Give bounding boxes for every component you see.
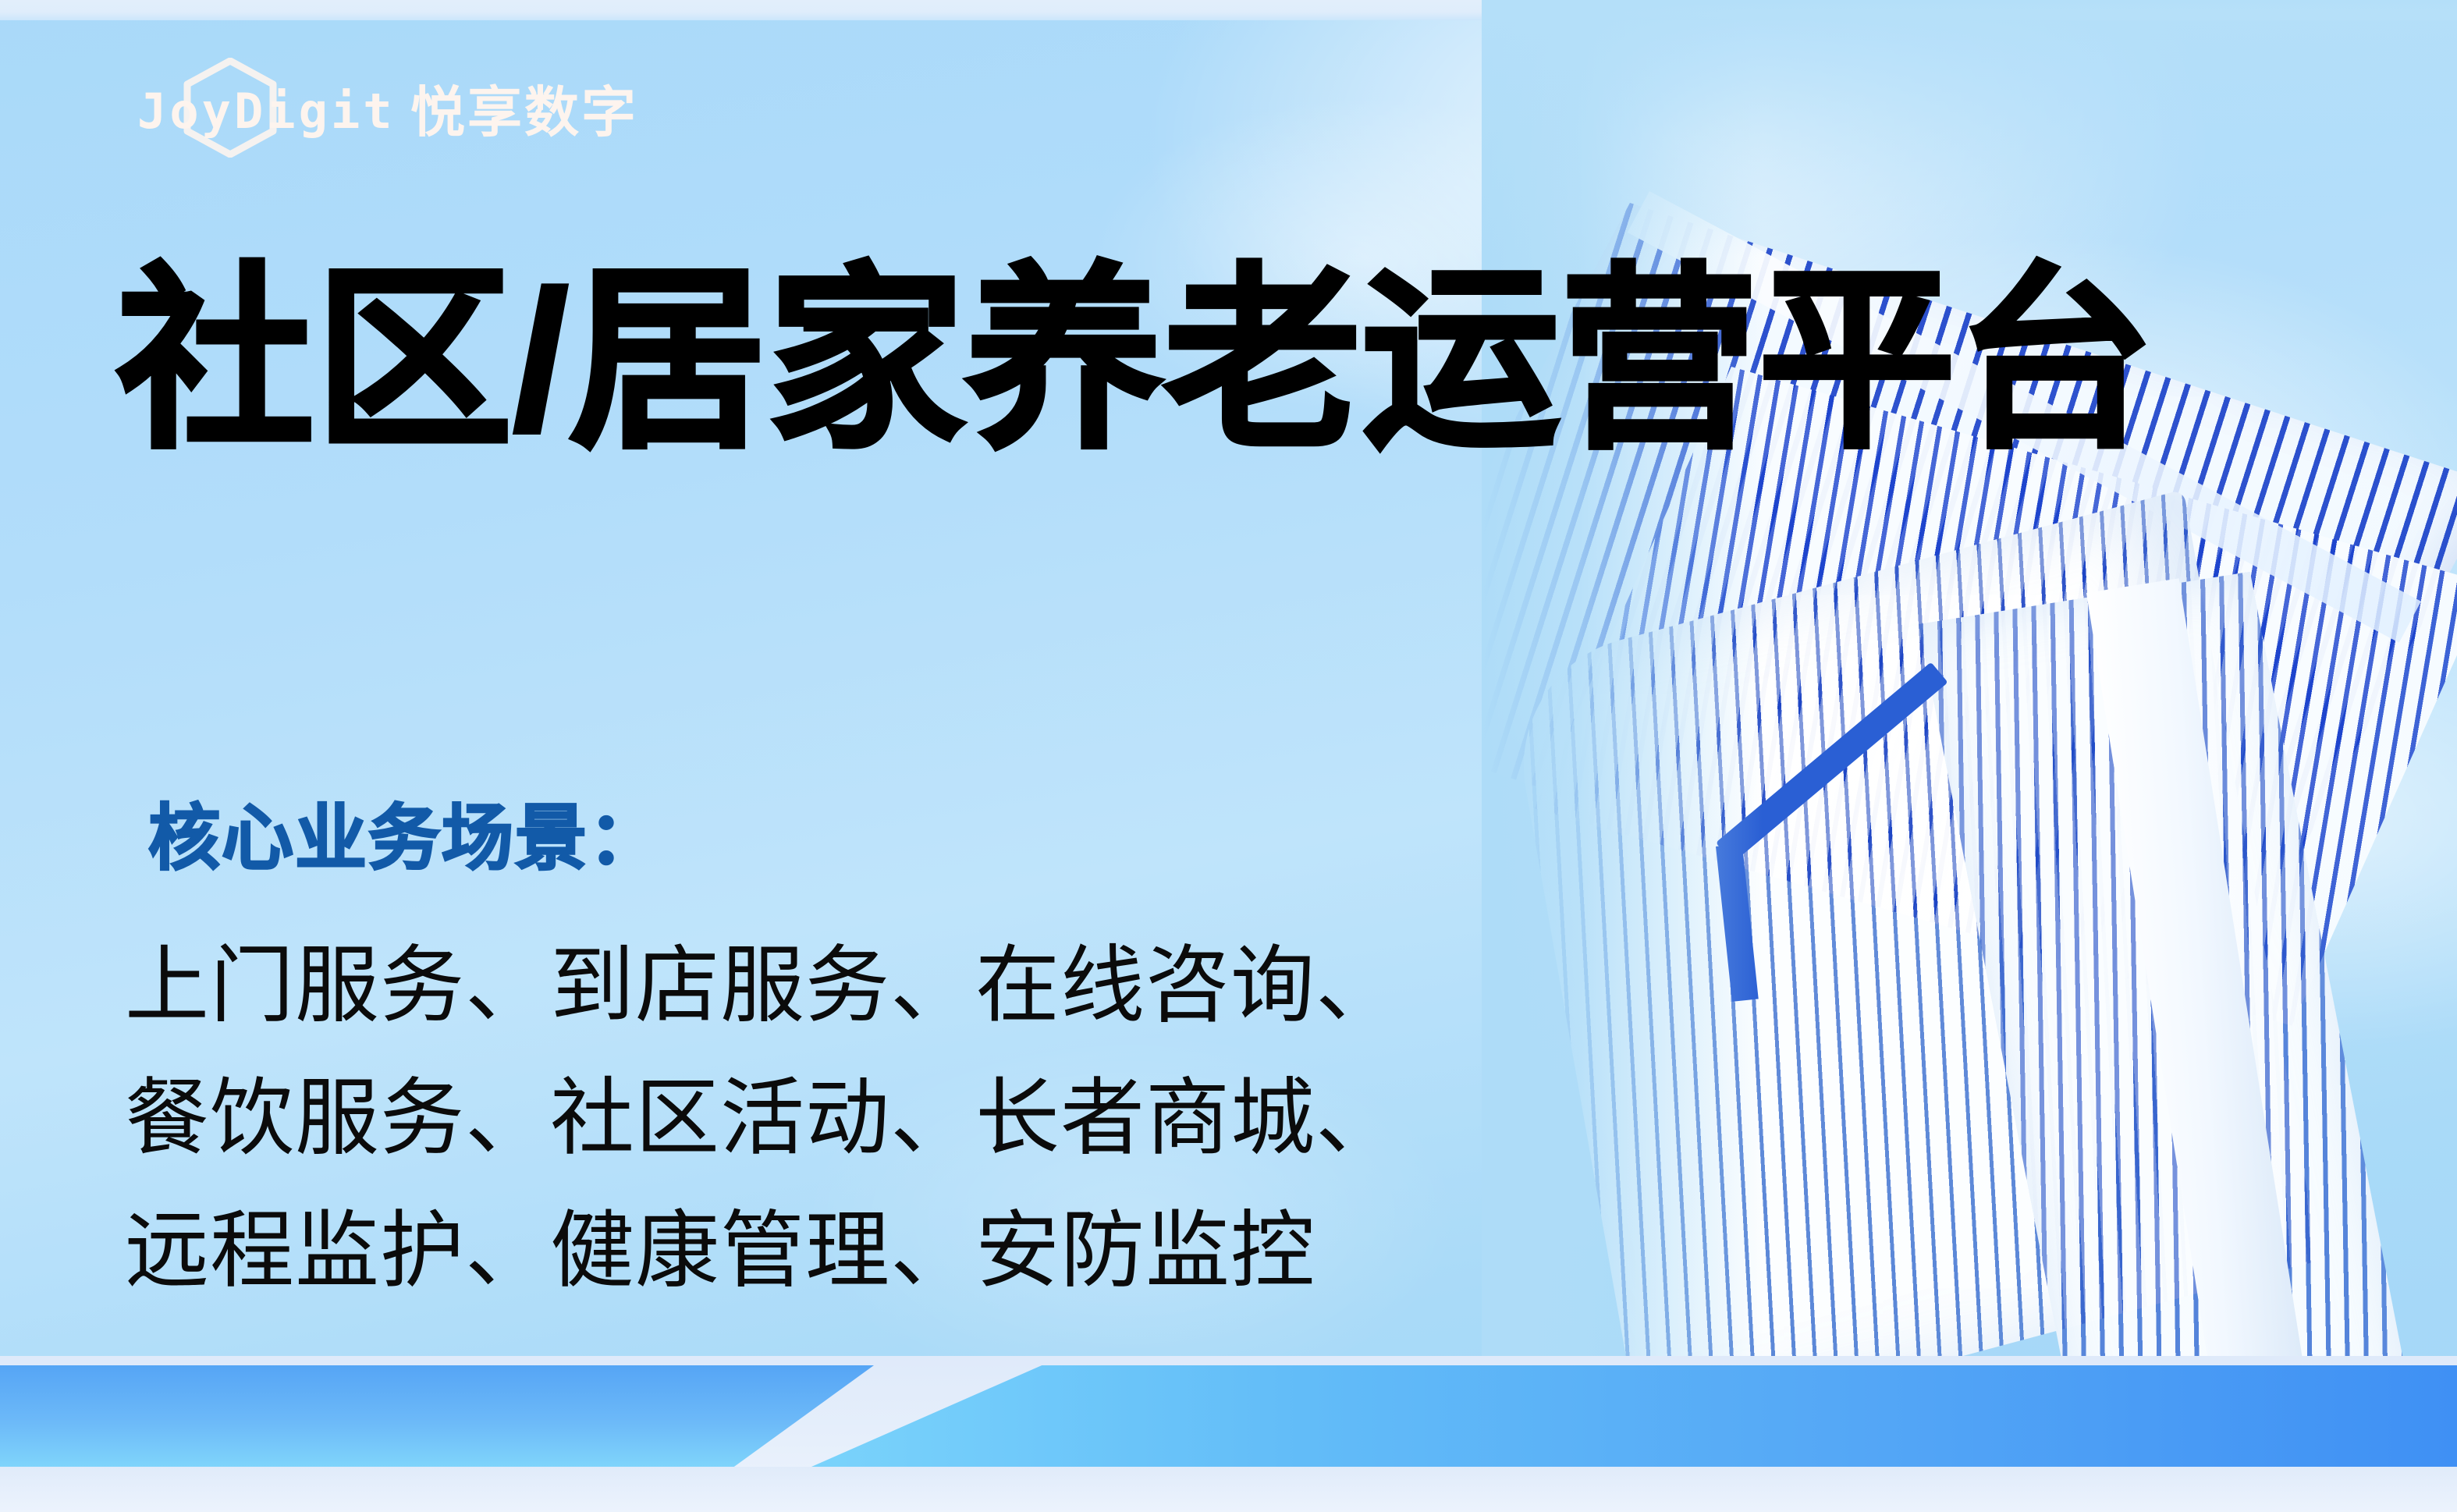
scenario-list: 上门服务、到店服务、在线咨询、 餐饮服务、社区活动、长者商城、 远程监护、健康管… <box>125 919 1401 1317</box>
scenario-line: 上门服务、到店服务、在线咨询、 <box>125 919 1401 1052</box>
scenario-line: 远程监护、健康管理、安防监控 <box>125 1184 1401 1317</box>
scenario-line: 餐饮服务、社区活动、长者商城、 <box>125 1052 1401 1184</box>
logo-mark: JoyDigit <box>137 64 301 151</box>
bottom-decorative-band <box>0 1356 2457 1512</box>
band-footer-strip <box>0 1467 2457 1512</box>
page-title: 社区/居家养老运营平台 <box>117 261 2155 461</box>
logo-chinese-name: 悦享数字 <box>410 69 638 147</box>
section-subtitle: 核心业务场景： <box>148 780 662 884</box>
band-left-parallelogram <box>0 1365 874 1467</box>
skyscraper-artwork <box>1482 0 2457 1404</box>
slide-canvas: JoyDigit 悦享数字 社区/居家养老运营平台 核心业务场景： 上门服务、到… <box>0 0 2457 1512</box>
brand-logo[interactable]: JoyDigit 悦享数字 <box>137 64 638 151</box>
building-top-fade <box>1482 0 2457 257</box>
band-right-parallelogram <box>811 1365 2457 1467</box>
logo-wordmark: JoyDigit <box>137 83 396 140</box>
